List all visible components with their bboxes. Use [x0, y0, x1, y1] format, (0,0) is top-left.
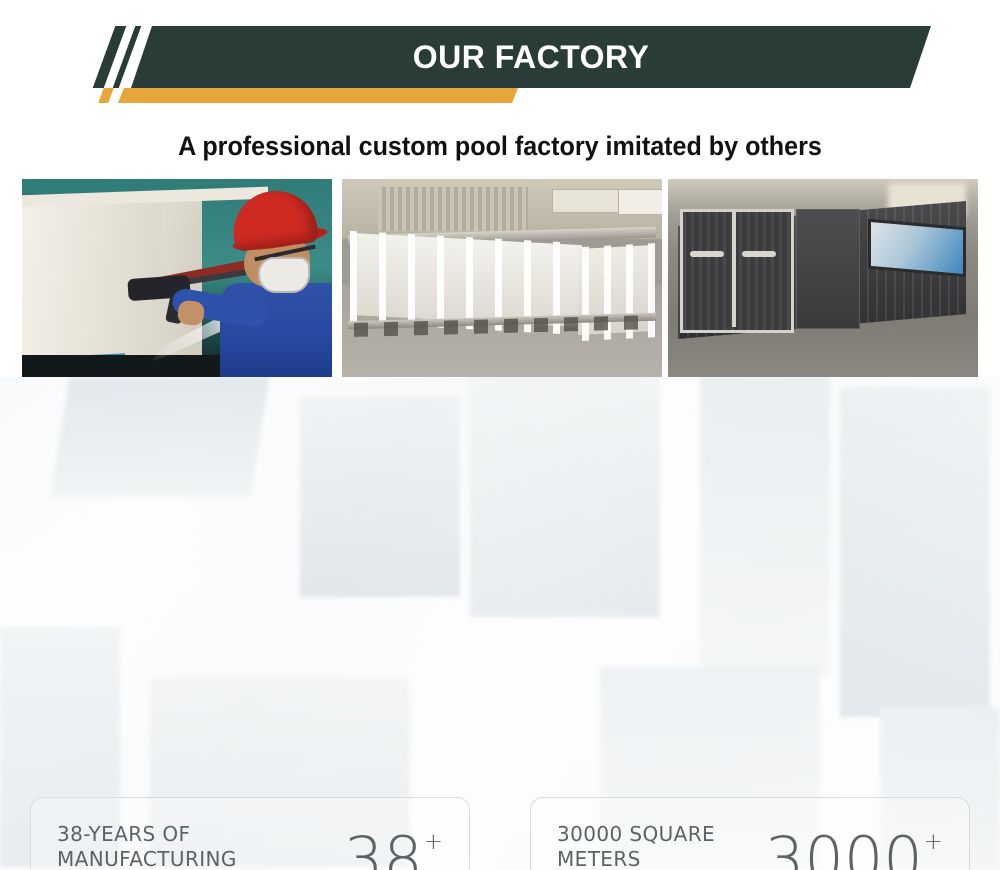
stat-value-group: 38+ [344, 829, 443, 870]
banner-accent-bar [118, 88, 518, 103]
page-subtitle: A professional custom pool factory imita… [35, 124, 965, 168]
banner-accent-slash [98, 88, 113, 103]
photo3-gate-center-post [732, 209, 736, 327]
stat-suffix: + [424, 831, 443, 854]
photo3-glass-viewing-window [868, 219, 966, 278]
bg-shape [840, 387, 990, 717]
photo1-worker-hand [177, 300, 205, 327]
bg-shape [470, 377, 660, 617]
photo-steel-frame-pool [342, 179, 662, 377]
photo-worker-spraying-foam [22, 179, 332, 377]
photo3-gate-latch-left [690, 251, 724, 257]
bg-shape [50, 377, 269, 497]
photo-container-pool [668, 179, 978, 377]
photo1-respirator-mask [258, 257, 310, 293]
stat-suffix: + [924, 831, 943, 854]
factory-photo-gallery [0, 179, 1000, 377]
stat-value: 3000 [765, 829, 923, 870]
stat-label: 30000 SQUAREMETERSOF FACTORY [557, 822, 715, 870]
stat-label: 38-YEARS OFMANUFACTURINGEXPERIENCE [57, 822, 237, 870]
bg-shape [700, 377, 830, 677]
photo3-side-door [796, 209, 860, 329]
stat-card-manufacturing-experience: 38-YEARS OFMANUFACTURINGEXPERIENCE 38+ [30, 797, 470, 870]
photo2-roller-shutter [378, 187, 528, 231]
photo3-gate-latch-right [742, 251, 776, 257]
header-banner: OUR FACTORY [0, 0, 1000, 115]
stat-value: 38 [344, 829, 423, 870]
stat-card-factory-area: 30000 SQUAREMETERSOF FACTORY 3000+ [530, 797, 970, 870]
factory-stats-section: 38-YEARS OFMANUFACTURINGEXPERIENCE 38+ 3… [0, 377, 1000, 870]
page-title: OUR FACTORY [131, 26, 931, 88]
bg-shape [300, 397, 460, 597]
photo3-double-gate [680, 209, 794, 333]
photo2-wall-sign-small [618, 189, 662, 215]
stat-value-group: 3000+ [765, 829, 943, 870]
